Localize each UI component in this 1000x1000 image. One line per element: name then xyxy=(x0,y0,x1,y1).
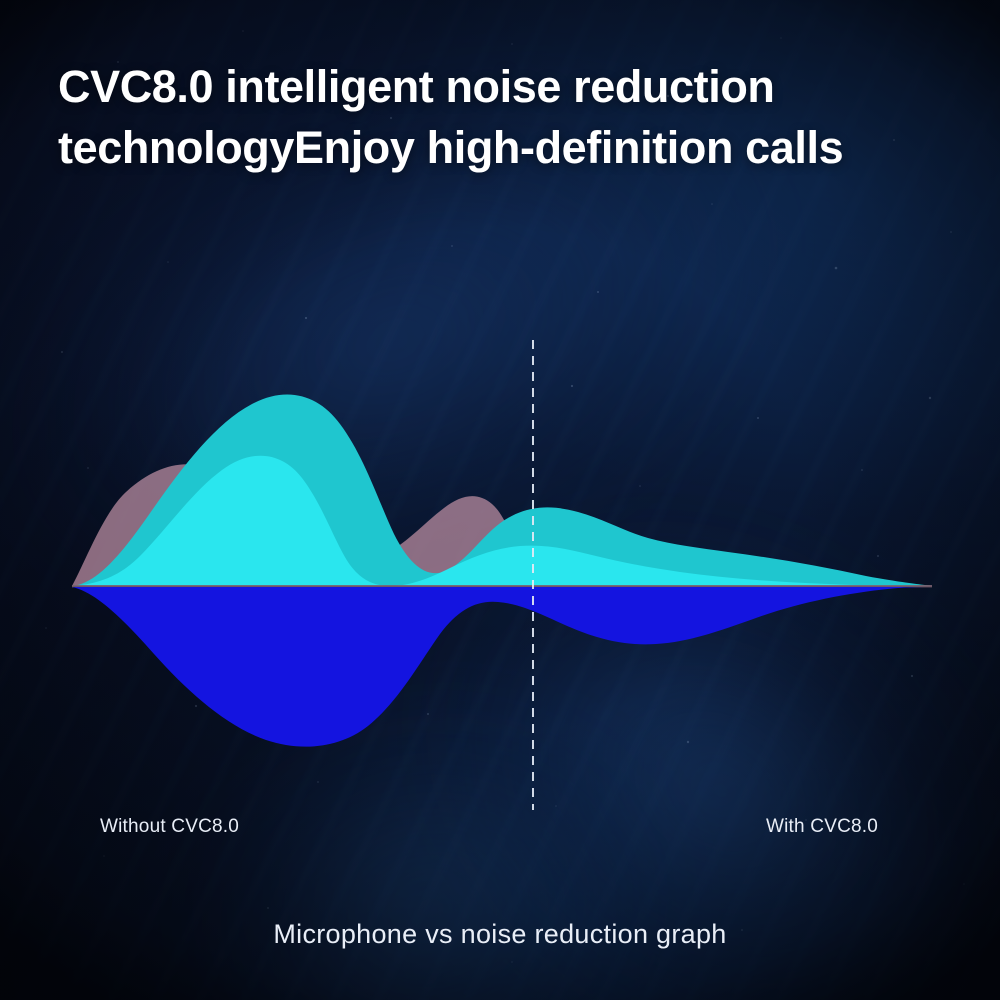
label-without-cvc: Without CVC8.0 xyxy=(100,816,239,838)
promo-graphic: CVC8.0 intelligent noise reduction techn… xyxy=(0,0,1000,1000)
chart-caption: Microphone vs noise reduction graph xyxy=(0,919,1000,950)
dashed-divider xyxy=(532,340,534,810)
waveform-chart xyxy=(0,0,1000,1000)
label-with-cvc: With CVC8.0 xyxy=(766,816,878,838)
series-blue-output-waveform xyxy=(72,587,932,747)
